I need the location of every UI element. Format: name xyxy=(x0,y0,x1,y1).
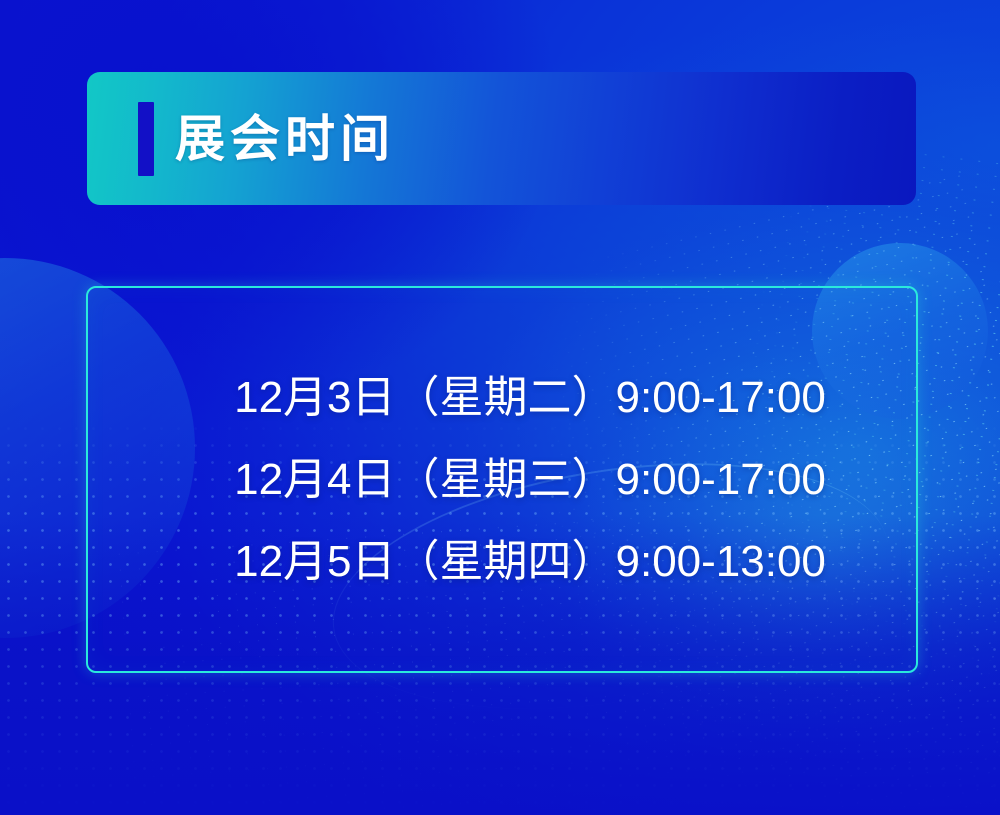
schedule-line-1: 12月3日（星期二）9:00-17:00 xyxy=(144,357,916,439)
schedule-line-3: 12月5日（星期四）9:00-13:00 xyxy=(144,521,916,603)
header-banner: 展会时间 xyxy=(87,72,916,205)
schedule-card: 12月3日（星期二）9:00-17:00 12月4日（星期三）9:00-17:0… xyxy=(86,286,918,673)
schedule-list: 12月3日（星期二）9:00-17:00 12月4日（星期三）9:00-17:0… xyxy=(88,357,916,603)
schedule-line-2: 12月4日（星期三）9:00-17:00 xyxy=(144,439,916,521)
vertical-accent-bar-icon xyxy=(138,102,154,176)
poster-canvas: 展会时间 12月3日（星期二）9:00-17:00 12月4日（星期三）9:00… xyxy=(0,0,1000,815)
page-title: 展会时间 xyxy=(175,114,395,164)
